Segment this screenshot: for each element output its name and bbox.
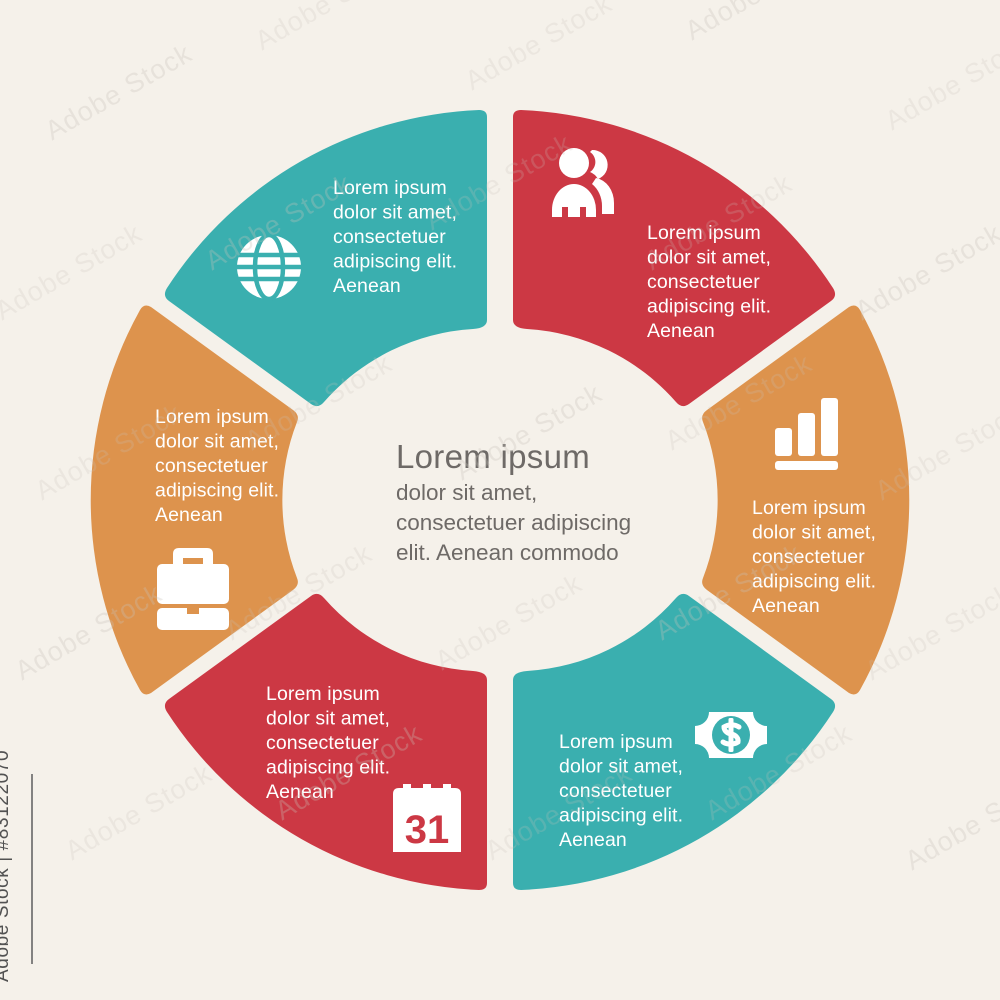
money-icon (695, 712, 767, 758)
watermark-sidebar-label: Adobe Stock | #83122070 (0, 750, 14, 982)
watermark-divider-bar (31, 774, 33, 964)
center-content: Lorem ipsum dolor sit amet, consectetuer… (396, 438, 637, 565)
globe-icon (237, 235, 301, 299)
calendar-icon: 31 (393, 784, 461, 852)
center-title: Lorem ipsum (396, 438, 590, 475)
infographic-canvas: Lorem ipsum dolor sit amet, consectetuer… (0, 0, 1000, 1000)
center-body: dolor sit amet, consectetuer adipiscing … (396, 480, 637, 565)
circle-infographic: Lorem ipsum dolor sit amet, consectetuer… (0, 0, 1000, 1000)
calendar-day-label: 31 (405, 808, 450, 852)
